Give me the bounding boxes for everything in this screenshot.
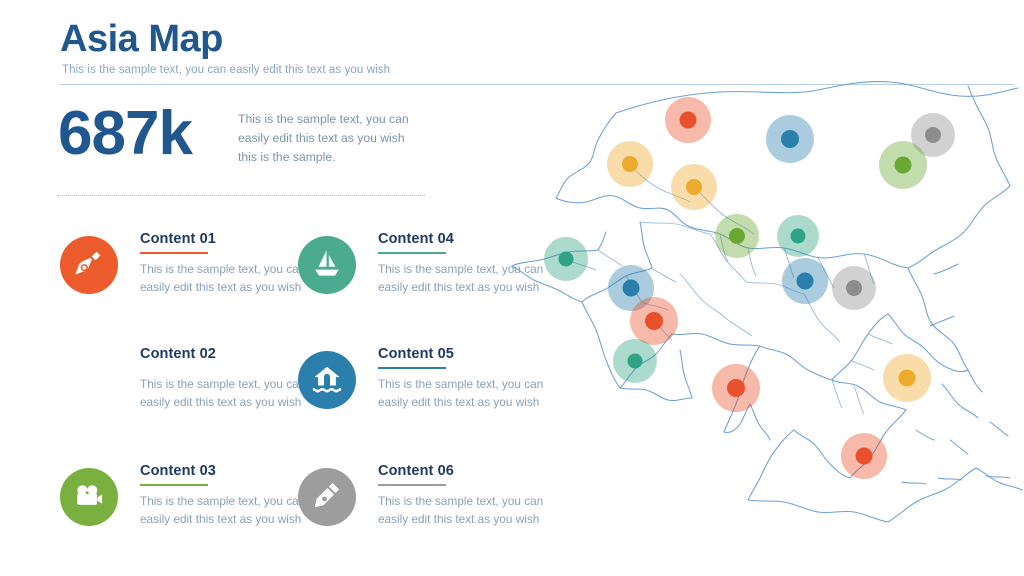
marker-dot	[729, 228, 745, 244]
marker-dot	[856, 448, 873, 465]
content-item-body: Content 02This is the sample text, you c…	[140, 347, 308, 412]
content-item-title: Content 03	[140, 464, 308, 484]
content-item-accent-bar	[378, 484, 446, 487]
marker-teal-mongolia[interactable]	[777, 215, 819, 257]
content-item-3[interactable]: Content 03This is the sample text, you c…	[60, 464, 310, 576]
content-item-text: This is the sample text, you can easily …	[140, 493, 308, 529]
video-camera-icon	[74, 480, 104, 515]
asia-map	[498, 78, 1024, 538]
content-item-accent-bar	[140, 484, 208, 487]
slide-root: Asia Map This is the sample text, you ca…	[0, 0, 1024, 576]
marker-blue-china[interactable]	[782, 258, 828, 304]
marker-red-gulf[interactable]	[630, 297, 678, 345]
marker-dot	[895, 157, 912, 174]
content-item-title: Content 01	[140, 232, 308, 252]
flood-house-icon-badge[interactable]	[298, 351, 356, 409]
marker-dot	[846, 280, 862, 296]
flood-house-icon	[312, 363, 342, 398]
content-item-body: Content 03This is the sample text, you c…	[140, 464, 308, 529]
pen-nib-icon	[312, 480, 342, 515]
power-plug-icon-badge[interactable]	[60, 236, 118, 294]
content-item-accent-bar	[140, 367, 208, 370]
content-item-text: This is the sample text, you can easily …	[140, 376, 308, 412]
marker-dot	[727, 379, 745, 397]
marker-dot	[622, 156, 638, 172]
content-item-1[interactable]: Content 01This is the sample text, you c…	[60, 232, 310, 344]
marker-blue-north[interactable]	[766, 115, 814, 163]
marker-dot	[645, 312, 663, 330]
marker-dot	[623, 280, 640, 297]
marker-dot	[791, 229, 806, 244]
marker-green-central[interactable]	[715, 214, 759, 258]
marker-amber-southeast[interactable]	[883, 354, 931, 402]
marker-dot	[680, 112, 697, 129]
marker-dot	[628, 354, 643, 369]
marker-dot	[797, 273, 814, 290]
marker-amber-central[interactable]	[671, 164, 717, 210]
marker-dot	[925, 127, 941, 143]
pen-nib-icon-badge[interactable]	[298, 468, 356, 526]
marker-dot	[559, 252, 574, 267]
content-item-text: This is the sample text, you can easily …	[140, 261, 308, 297]
content-item-title: Content 02	[140, 347, 308, 367]
sailboat-icon	[312, 248, 342, 283]
content-items-grid: Content 01This is the sample text, you c…	[0, 0, 560, 576]
content-item-2[interactable]: Content 02This is the sample text, you c…	[60, 347, 310, 459]
marker-dot	[781, 130, 799, 148]
marker-teal-yemen[interactable]	[613, 339, 657, 383]
content-item-accent-bar	[378, 252, 446, 255]
marker-dot	[899, 370, 916, 387]
video-camera-icon-badge[interactable]	[60, 468, 118, 526]
marker-red-sumatra[interactable]	[841, 433, 887, 479]
marker-gray-china-east[interactable]	[832, 266, 876, 310]
marker-amber-west[interactable]	[607, 141, 653, 187]
marker-dot	[686, 179, 702, 195]
marker-teal-turkey[interactable]	[544, 237, 588, 281]
content-item-body: Content 01This is the sample text, you c…	[140, 232, 308, 297]
power-plug-icon	[74, 248, 104, 283]
marker-red-northwest[interactable]	[665, 97, 711, 143]
sailboat-icon-badge[interactable]	[298, 236, 356, 294]
content-item-accent-bar	[378, 367, 446, 370]
content-item-accent-bar	[140, 252, 208, 255]
marker-red-india[interactable]	[712, 364, 760, 412]
item-icon-badge[interactable]	[60, 351, 118, 409]
marker-green-northeast[interactable]	[879, 141, 927, 189]
